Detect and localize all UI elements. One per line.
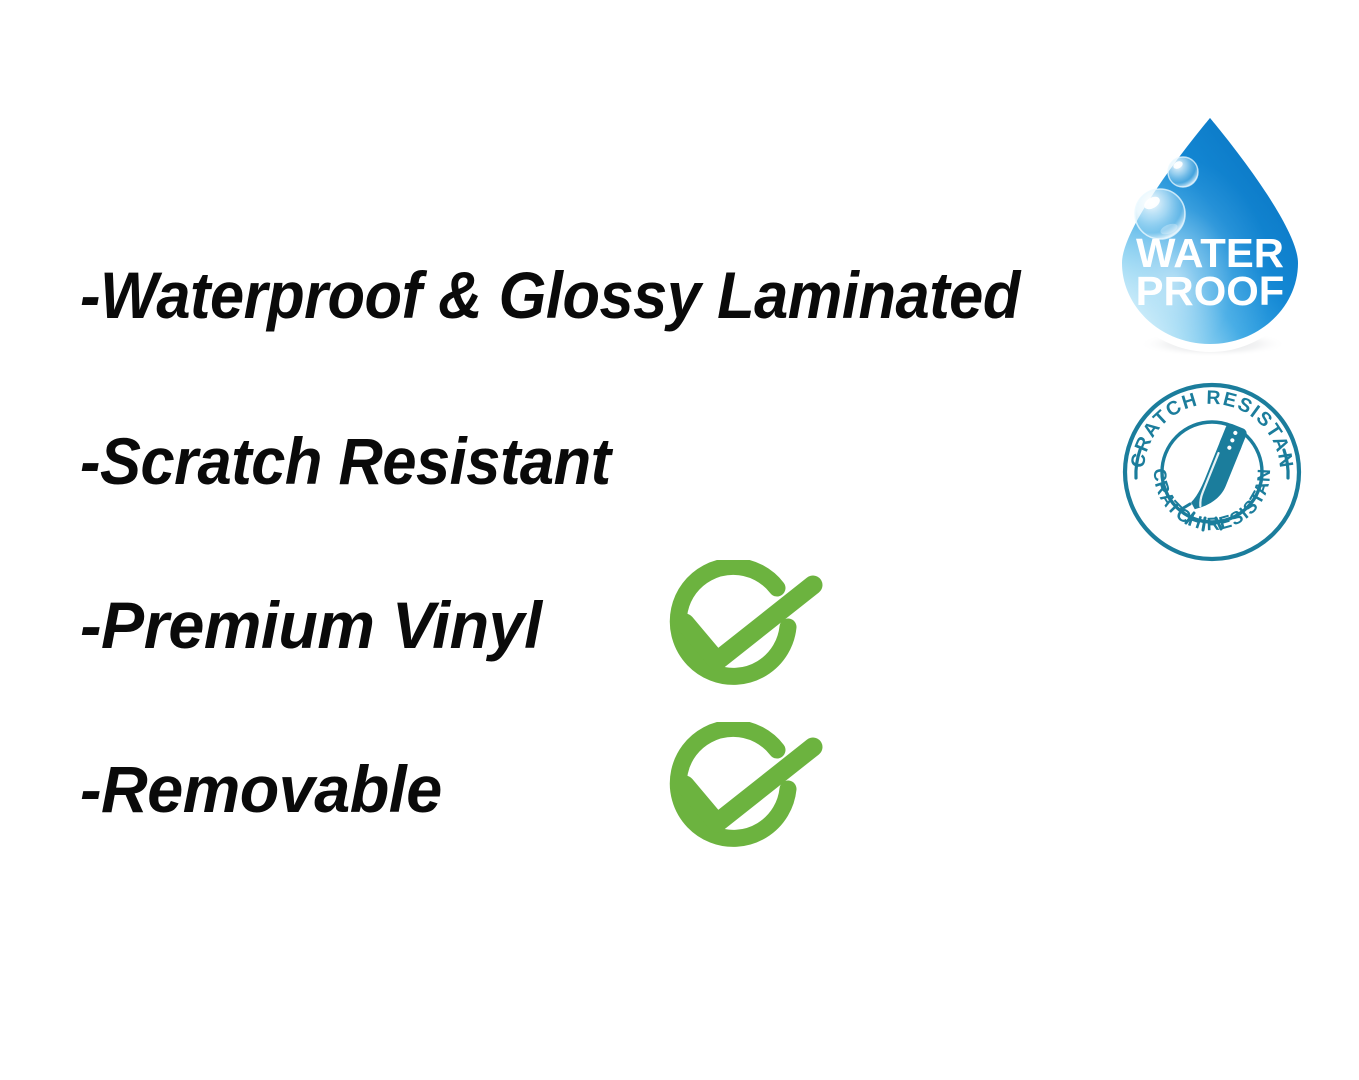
feature-item-premium-vinyl: -Premium Vinyl bbox=[80, 592, 542, 658]
feature-item-label: -Removable bbox=[80, 756, 442, 822]
scratch-resistant-badge: SCRATCH RESISTANT SCRATCH RESISTANT bbox=[1122, 382, 1302, 562]
waterproof-badge: WATER PROOF bbox=[1097, 106, 1323, 358]
feature-callout-graphic: -Waterproof & Glossy Laminated -Scratch … bbox=[0, 0, 1359, 1080]
knife-glyph bbox=[1189, 421, 1248, 517]
check-circle-icon bbox=[641, 560, 837, 700]
water-drop-icon bbox=[1097, 106, 1323, 358]
feature-item-label: -Scratch Resistant bbox=[80, 428, 611, 494]
feature-item-label: -Premium Vinyl bbox=[80, 592, 542, 658]
knife-stamp-icon: SCRATCH RESISTANT SCRATCH RESISTANT bbox=[1122, 382, 1302, 562]
feature-item-waterproof: -Waterproof & Glossy Laminated bbox=[80, 262, 1020, 328]
check-mark-removable bbox=[641, 722, 837, 862]
scratch-badge-top-text: SCRATCH RESISTANT bbox=[1122, 382, 1297, 470]
feature-item-removable: -Removable bbox=[80, 756, 442, 822]
feature-item-scratch-resistant: -Scratch Resistant bbox=[80, 428, 611, 494]
feature-list: -Waterproof & Glossy Laminated -Scratch … bbox=[0, 0, 1100, 1080]
check-mark-premium-vinyl bbox=[641, 560, 837, 700]
feature-item-label: -Waterproof & Glossy Laminated bbox=[80, 262, 1020, 328]
check-circle-icon bbox=[641, 722, 837, 862]
